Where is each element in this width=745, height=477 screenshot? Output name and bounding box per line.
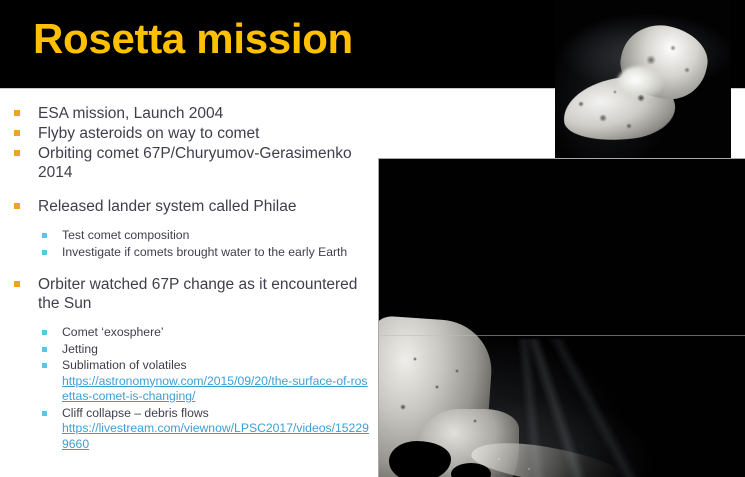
presentation-slide: Rosetta mission ESA mission, Launch 2004… bbox=[0, 0, 745, 477]
square-bullet-icon bbox=[14, 281, 20, 287]
square-bullet-icon bbox=[42, 250, 47, 255]
bullet-item: Orbiting comet 67P/Churyumov-Gerasimenko… bbox=[10, 144, 370, 182]
spacer bbox=[10, 183, 370, 197]
comet-nucleus-photo bbox=[555, 0, 731, 160]
bullet-group-1: ESA mission, Launch 2004 Flyby asteroids… bbox=[10, 104, 370, 182]
square-bullet-icon bbox=[14, 203, 20, 209]
sub-bullet-item: Cliff collapse – debris flows https://li… bbox=[10, 406, 370, 453]
square-bullet-icon bbox=[14, 130, 20, 136]
sub-bullet-text: Test comet composition bbox=[62, 228, 189, 242]
nucleus-surface-texture bbox=[555, 0, 731, 160]
bullet-text: Flyby asteroids on way to comet bbox=[38, 125, 259, 142]
bullet-text: ESA mission, Launch 2004 bbox=[38, 105, 223, 122]
bullet-item: ESA mission, Launch 2004 bbox=[10, 104, 370, 123]
bullet-group-2: Released lander system called Philae Tes… bbox=[10, 197, 370, 260]
sub-bullet-text: Investigate if comets brought water to t… bbox=[62, 245, 347, 259]
square-bullet-icon bbox=[14, 110, 20, 116]
sub-bullet-item: Test comet composition bbox=[10, 228, 370, 244]
square-bullet-icon bbox=[14, 150, 20, 156]
sub-bullet-text: Jetting bbox=[62, 342, 98, 356]
bullet-group-3: Orbiter watched 67P change as it encount… bbox=[10, 275, 370, 452]
sub-bullet-text: Sublimation of volatiles bbox=[62, 358, 187, 372]
bullet-text: Orbiting comet 67P/Churyumov-Gerasimenko… bbox=[38, 145, 352, 181]
page-title: Rosetta mission bbox=[33, 14, 353, 64]
bullet-item: Orbiter watched 67P change as it encount… bbox=[10, 275, 370, 313]
sub-bullet-text: Cliff collapse – debris flows bbox=[62, 406, 209, 420]
bullet-text: Orbiter watched 67P change as it encount… bbox=[38, 276, 357, 312]
sub-bullet-item: Jetting bbox=[10, 342, 370, 358]
bullet-item: Released lander system called Philae bbox=[10, 197, 370, 216]
sub-bullet-item: Sublimation of volatiles https://astrono… bbox=[10, 358, 370, 405]
square-bullet-icon bbox=[42, 330, 47, 335]
slide-body: ESA mission, Launch 2004 Flyby asteroids… bbox=[10, 104, 370, 453]
sub-bullet-text: Comet ‘exosphere’ bbox=[62, 325, 164, 339]
comet-surface-photo bbox=[378, 158, 745, 477]
spacer bbox=[10, 261, 370, 275]
sub-bullet-item: Investigate if comets brought water to t… bbox=[10, 245, 370, 261]
livestream-link[interactable]: https://livestream.com/viewnow/LPSC2017/… bbox=[62, 421, 370, 452]
square-bullet-icon bbox=[42, 411, 47, 416]
surface-grain bbox=[379, 159, 745, 477]
square-bullet-icon bbox=[42, 347, 47, 352]
sub-bullet-item: Comet ‘exosphere’ bbox=[10, 325, 370, 341]
bullet-item: Flyby asteroids on way to comet bbox=[10, 124, 370, 143]
astronomynow-link[interactable]: https://astronomynow.com/2015/09/20/the-… bbox=[62, 374, 370, 405]
bullet-text: Released lander system called Philae bbox=[38, 198, 296, 215]
square-bullet-icon bbox=[42, 233, 47, 238]
square-bullet-icon bbox=[42, 363, 47, 368]
